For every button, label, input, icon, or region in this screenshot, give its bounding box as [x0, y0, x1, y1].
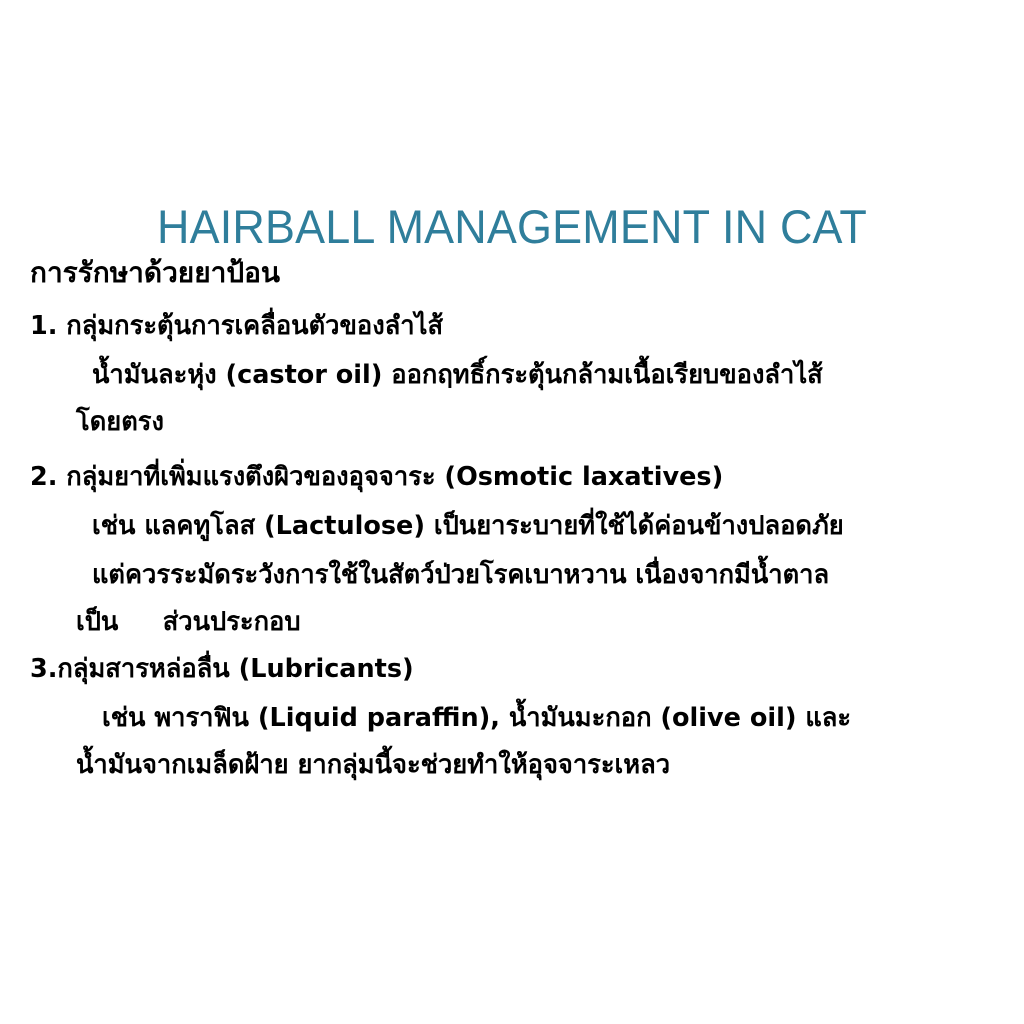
- list-item-1-detail-line-2: โดยตรง: [30, 400, 1010, 445]
- section-subheading: การรักษาด้วยยาป้อน: [30, 246, 1010, 300]
- list-item-3-heading: 3.กลุ่มสารหล่อลื่น (Lubricants): [30, 645, 1010, 694]
- list-item-2-detail-line-3: เป็น ส่วนประกอบ: [30, 600, 1010, 645]
- page-title: HAIRBALL MANAGEMENT IN CAT: [23, 203, 1001, 251]
- list-item-2-detail-line-1: เช่น แลคทูโลส (Lactulose) เป็นยาระบายที่…: [30, 502, 1010, 551]
- list-item-3-detail-line-1: เช่น พาราฟิน (Liquid paraffin), น้ำมันมะ…: [30, 694, 1010, 743]
- list-item-2-detail-line-2: แต่ควรระมัดระวังการใช้ในสัตว์ป่วยโรคเบาห…: [30, 551, 1010, 600]
- list-item-3-detail-line-2: น้ำมันจากเมล็ดฝ้าย ยากลุ่มนี้จะช่วยทำให้…: [30, 743, 1010, 788]
- list-item-2-heading: 2. กลุ่มยาที่เพิ่มแรงตึงผิวของอุจจาระ (O…: [30, 453, 1010, 502]
- slide-body: การรักษาด้วยยาป้อน 1. กลุ่มกระตุ้นการเคล…: [30, 246, 1010, 788]
- list-item-1-heading: 1. กลุ่มกระตุ้นการเคลื่อนตัวของลำไส้: [30, 302, 1010, 351]
- slide-canvas: HAIRBALL MANAGEMENT IN CAT การรักษาด้วยย…: [0, 0, 1024, 1024]
- list-item-1-detail-line-1: น้ำมันละหุ่ง (castor oil) ออกฤทธิ์กระตุ้…: [30, 351, 1010, 400]
